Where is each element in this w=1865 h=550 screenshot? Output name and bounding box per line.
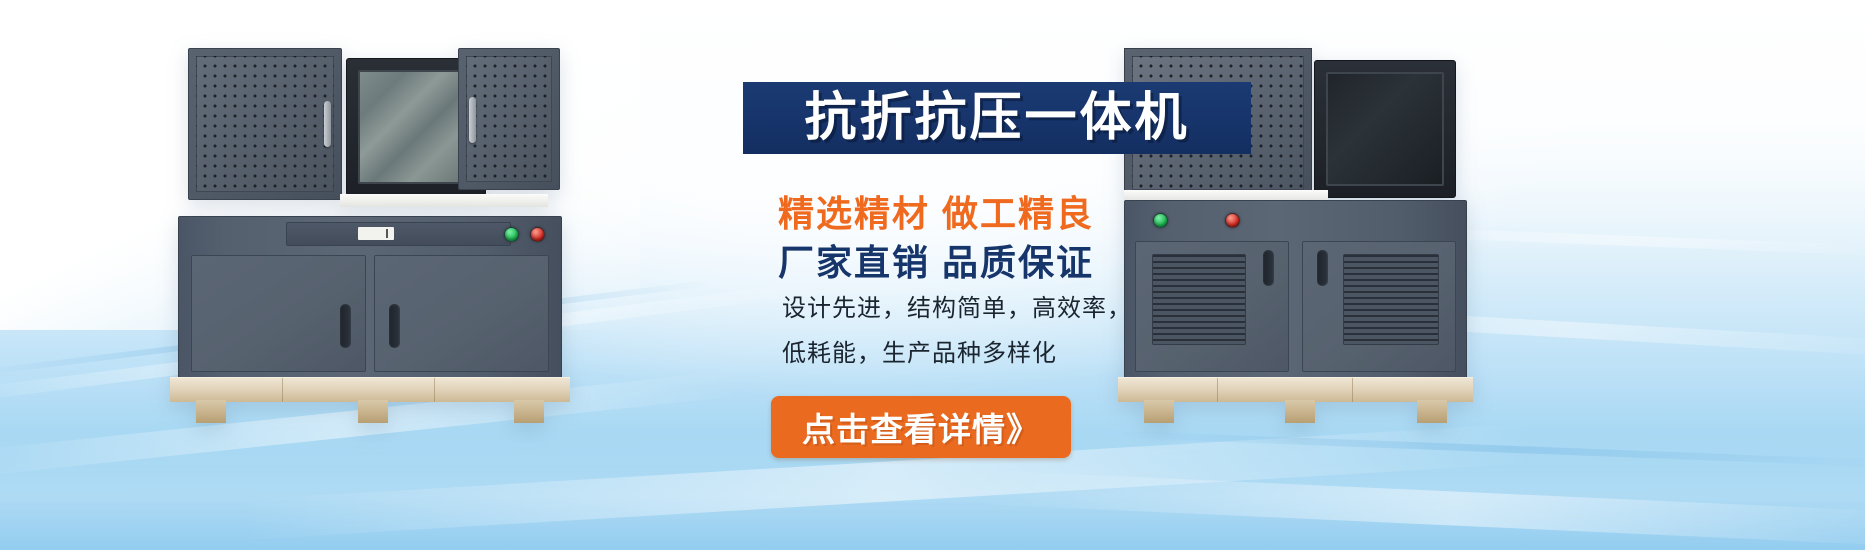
indicator-light-green (504, 227, 519, 242)
cabinet-door-left (191, 255, 366, 372)
door-handle (340, 304, 351, 348)
cabinet-door-right (374, 255, 549, 372)
view-details-label: 点击查看详情》 (802, 403, 1040, 451)
ventilation-grille (1152, 254, 1246, 345)
wooden-pallet (170, 377, 570, 423)
door-handle (1317, 250, 1328, 286)
pallet-leg (1144, 400, 1174, 423)
indicator-light-green (1153, 213, 1168, 228)
pallet-deck (1118, 377, 1473, 402)
door-handle (1263, 250, 1274, 286)
perforated-cabinet-right (458, 48, 560, 190)
pallet-leg (1417, 400, 1447, 423)
pallet-leg (358, 400, 388, 423)
subtitle-blue: 厂家直销 品质保证 (778, 234, 1094, 286)
description-line-2: 低耗能，生产品种多样化 (782, 333, 1057, 368)
pallet-deck (170, 377, 570, 402)
banner-title: 抗折抗压一体机 (804, 92, 1189, 144)
machine-left-body (178, 216, 562, 379)
door-handle (389, 304, 400, 348)
indicator-light-red (530, 227, 545, 242)
cabinet-door-left (1135, 241, 1289, 372)
pallet-leg (514, 400, 544, 423)
wooden-pallet (1118, 377, 1473, 423)
control-monitor (1314, 60, 1456, 198)
title-banner-bar: 抗折抗压一体机 (743, 82, 1251, 154)
control-label-plate (358, 227, 394, 240)
perforation-pattern (466, 56, 552, 182)
machine-left-upper-section (170, 48, 570, 220)
indicator-light-red (1225, 213, 1240, 228)
pallet-leg (196, 400, 226, 423)
monitor-screen (358, 70, 474, 184)
perforated-cabinet-left (188, 48, 342, 200)
subtitle-orange: 精选精材 做工精良 (778, 185, 1094, 237)
perforation-pattern (196, 56, 334, 192)
cabinet-door-right (1302, 241, 1456, 372)
white-shelf-trim (340, 194, 548, 207)
view-details-button[interactable]: 点击查看详情》 (771, 396, 1071, 458)
monitor-screen (1326, 72, 1444, 186)
cabinet-handle (324, 101, 331, 147)
description-line-1: 设计先进，结构简单，高效率， (782, 288, 1132, 323)
cabinet-handle (469, 97, 476, 143)
promo-banner: 抗折抗压一体机 精选精材 做工精良 厂家直销 品质保证 设计先进，结构简单，高效… (0, 0, 1865, 550)
pallet-leg (1285, 400, 1315, 423)
product-image-left (170, 48, 570, 423)
control-panel-strip (286, 222, 511, 246)
machine-right-body (1124, 200, 1467, 379)
ventilation-grille (1343, 254, 1439, 345)
